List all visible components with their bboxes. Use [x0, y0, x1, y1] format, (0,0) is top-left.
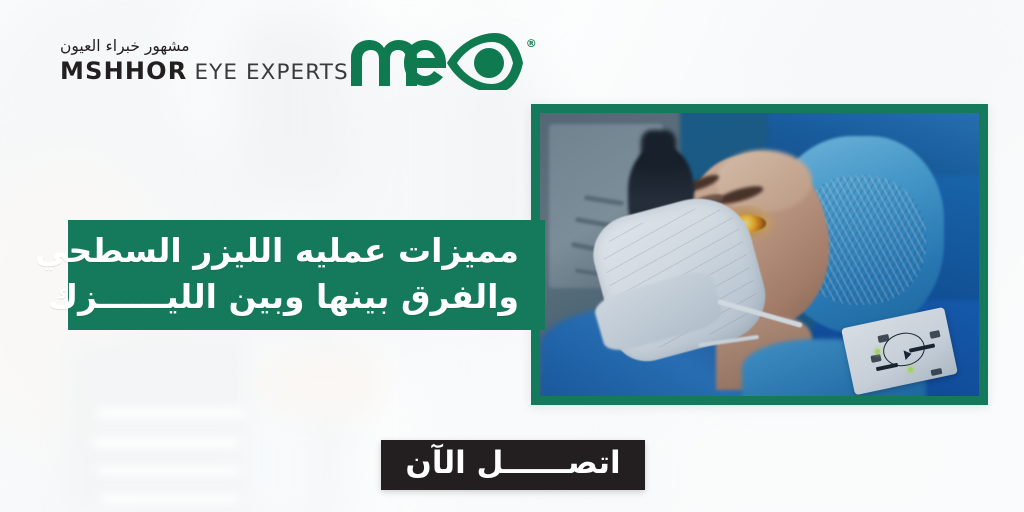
- headline-line-2: والفرق بينها وبين الليــــــزك: [90, 275, 519, 319]
- brand-name-arabic: مشهور خبراء العيون: [60, 37, 190, 55]
- promo-banner: ® مشهور خبراء العيون MSHHOR EYE EXPERTS: [0, 0, 1024, 512]
- procedure-photo: [540, 113, 979, 396]
- headline-line-1: مميزات عمليه الليزر السطحي: [90, 229, 519, 273]
- photo-color-tint: [540, 113, 979, 396]
- brand-logo[interactable]: ® مشهور خبراء العيون MSHHOR EYE EXPERTS: [38, 30, 438, 92]
- call-now-button-label: اتصــــــل الآن: [405, 448, 620, 479]
- headline-block: مميزات عمليه الليزر السطحي والفرق بينها …: [68, 220, 545, 330]
- brand-logo-text: مشهور خبراء العيون MSHHOR EYE EXPERTS: [60, 37, 349, 85]
- registered-trademark-icon: ®: [526, 38, 537, 49]
- call-now-button[interactable]: اتصــــــل الآن: [381, 440, 645, 490]
- procedure-photo-card: [531, 104, 988, 405]
- meo-eye-logomark-icon: ®: [349, 32, 525, 90]
- brand-tagline-latin: EYE EXPERTS: [194, 60, 348, 85]
- brand-name-latin-row: MSHHOR EYE EXPERTS: [60, 57, 349, 85]
- brand-name-latin: MSHHOR: [60, 57, 187, 85]
